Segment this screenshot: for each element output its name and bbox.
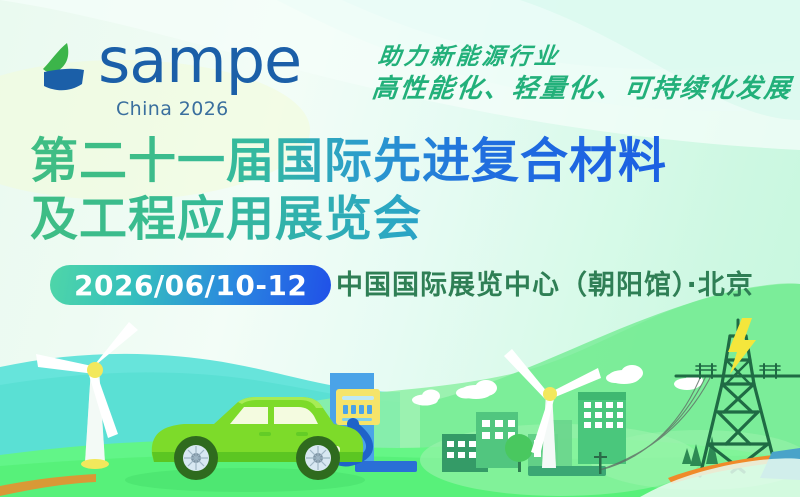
- event-title: 第二十一届国际先进复合材料 及工程应用展览会: [30, 132, 790, 248]
- sampe-china-2026-banner: sampe China 2026 助力新能源行业 高性能化、轻量化、可持续化发展…: [0, 0, 800, 497]
- event-title-line-2: 及工程应用展览会: [30, 190, 790, 248]
- sampe-leaf-logo-icon: [36, 40, 94, 98]
- slogan-line-2: 高性能化、轻量化、可持续化发展: [370, 72, 784, 106]
- slogan-line-1: 助力新能源行业: [376, 42, 783, 72]
- event-date-badge: 2026/06/10-12: [50, 265, 331, 305]
- event-venue: 中国国际展览中心（朝阳馆）·北京: [336, 268, 754, 304]
- slogan-block: 助力新能源行业 高性能化、轻量化、可持续化发展: [372, 42, 782, 106]
- event-title-line-1: 第二十一届国际先进复合材料: [30, 132, 790, 190]
- sampe-wordmark: sampe: [98, 30, 301, 92]
- sampe-logo-subtitle: China 2026: [116, 98, 229, 120]
- sampe-logo: sampe China 2026: [36, 36, 296, 126]
